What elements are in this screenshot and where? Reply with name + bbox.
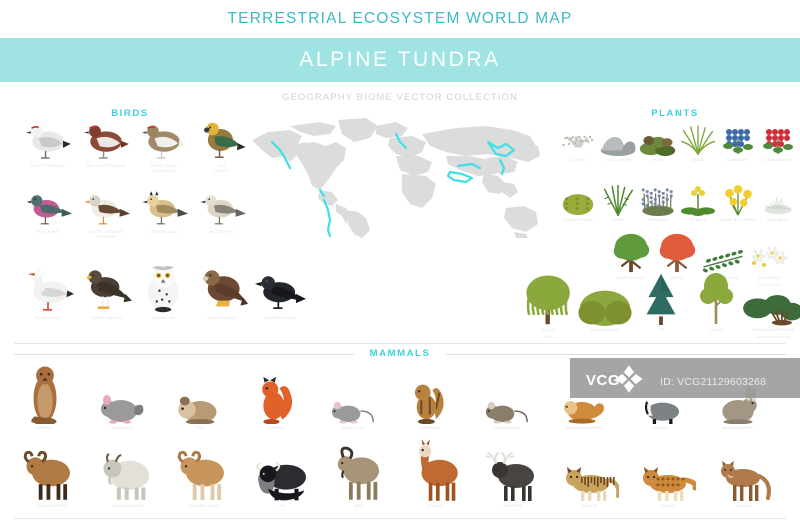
bird-illustration [80,262,132,314]
plant-siberian-dwarf-pine[interactable]: SIBERIAN DWARF PINEJapanese stone pine [742,272,800,340]
mammal-illustration [561,432,619,502]
mammal-label: SQUIRREL [253,426,299,431]
mammal-ibex[interactable]: IBEX [330,432,388,509]
plant-illustration [638,120,678,156]
mammal-chinchilla[interactable]: CHINCHILLA [99,362,145,431]
bird-golden-eagle[interactable]: GOLDEN EAGLE [196,262,248,321]
plant-illustration [718,120,758,156]
mammal-illustration [484,362,530,424]
bird-label: WATER PIPIT [196,230,248,235]
mammal-barbary-sheep[interactable]: BARBARY SHEEP [176,432,234,509]
plant-label: FIR [630,328,692,333]
plant-illustration [742,272,800,326]
mammal-label: BIGHORN SHEEP [22,504,80,509]
plant-illustration [608,230,654,274]
bird-white-tailed-ptarmigan[interactable]: WHITE-TAILED PTARMIGAN [138,118,190,174]
mammal-label: FIELD MOUSE [484,426,530,431]
bird-illustration [80,118,132,162]
bird-label: WHITE-CROWNED SPARROW [80,230,132,240]
bird-illustration [196,118,248,162]
bird-kea-parrot[interactable]: KEA PARROT [196,118,248,174]
mammal-illustration [330,432,388,502]
plant-alder[interactable]: ALDER [686,272,748,333]
plant-label: WILLOW [518,328,580,333]
plant-cushion-plant[interactable]: CUSHION PLANT [558,180,598,223]
bird-illustration [80,188,132,228]
plant-label: EDELWEISS [758,218,798,223]
plant-scientific-name: Salix [518,335,580,340]
divider-bottom [14,518,786,519]
mammal-illustration [407,362,453,424]
plant-lingonberry[interactable]: LINGONBERRY [758,120,798,163]
bird-rock-ptarmigan[interactable]: ROCK PTARMIGAN [22,118,74,169]
mammal-illustration [176,362,222,424]
plant-label: MOSS [638,158,678,163]
bird-snow-goose[interactable]: SNOW GOOSE [22,262,74,321]
watermark-logo: VCG [586,372,620,389]
bird-snowy-owl[interactable]: SNOWY OWL [138,262,190,321]
plant-illustration [598,120,638,156]
mammal-label: CHINCHILLA [99,426,145,431]
bird-label: WILLOW PTARMIGAN [80,164,132,169]
bird-prairie-falcon[interactable]: PRAIRIE FALCON [80,262,132,321]
bird-illustration [254,262,306,314]
mammal-illustration [330,362,376,424]
bird-illustration [196,188,248,228]
mammal-illustration [715,432,773,502]
plant-illustration [678,180,718,216]
bird-label: WHITE-TAILED PTARMIGAN [138,164,190,174]
divider-top [14,343,786,344]
plant-illustration [700,230,746,274]
mammal-illustration [22,362,68,424]
plant-illustration [630,272,692,326]
plant-label: CUSHION PLANT [558,218,598,223]
page-title: TERRESTRIAL ECOSYSTEM WORLD MAP [0,10,800,28]
plant-label: CUP LICHEN [598,158,638,163]
mammal-label: COUGAR [715,504,773,509]
bird-label: SNOW GOOSE [22,316,74,321]
bird-label: HORNED LARK [138,230,190,235]
plant-illustration [574,272,636,326]
mammal-squirrel[interactable]: SQUIRREL [253,362,299,431]
plant-illustration [558,120,598,156]
mammal-illustration [407,432,465,502]
plant-illustration [746,230,792,274]
plant-label: TUNDRA SHRUB [574,328,636,333]
mammal-yak[interactable]: YAK [253,432,311,509]
mammal-bobcat[interactable]: BOBCAT [638,432,696,509]
plant-illustration [518,272,580,326]
mammal-cougar[interactable]: COUGAR [715,432,773,509]
plant-label: LINGONBERRY [758,158,798,163]
mammal-illustration [484,432,542,502]
plant-label: ROSEMARY [638,218,678,223]
plant-lichen[interactable]: LICHEN [558,120,598,163]
plant-illustration [686,272,748,326]
plant-alpine-buttercup[interactable]: ALPINE BUTTERCUP [718,180,758,223]
plant-label: ALDER [686,328,748,333]
mammal-label: BOBCAT [638,504,696,509]
mammal-label: REINDEER [484,504,542,509]
plant-fir[interactable]: FIR [630,272,692,333]
plant-blueberry[interactable]: BLUEBERRY [718,120,758,163]
plant-fern[interactable]: FERN [598,180,638,223]
mammal-illustration [22,432,80,502]
bird-white-crowned-sparrow[interactable]: WHITE-CROWNED SPARROW [80,188,132,240]
mammal-guanaco[interactable]: GUANACO [407,432,465,509]
mammal-chipmunk[interactable]: CHIPMUNK [407,362,453,431]
bird-label: ROCK PTARMIGAN [22,164,74,169]
plant-scientific-name: Japanese stone pine [742,335,800,340]
mammal-illustration [99,432,157,502]
bird-common-raven[interactable]: COMMON RAVEN [254,262,306,321]
plant-cup-lichen[interactable]: CUP LICHEN [598,120,638,163]
mammal-label: SNOW VOLE [330,426,376,431]
plant-label: ALPINE BUTTERCUP [718,218,758,223]
bird-illustration [22,262,74,314]
plant-primula[interactable]: PRIMULA [678,180,718,223]
plant-illustration [758,120,798,156]
bird-label: PRAIRIE FALCON [80,316,132,321]
bird-water-pipit[interactable]: WATER PIPIT [196,188,248,235]
mammal-snow-vole[interactable]: SNOW VOLE [330,362,376,431]
plant-tundra-shrub[interactable]: TUNDRA SHRUB [574,272,636,333]
mammal-label: GROUND SQUIRREL [561,426,607,431]
bird-illustration [196,262,248,314]
plant-illustration [758,180,798,216]
plant-moss[interactable]: MOSS [638,120,678,163]
infographic-page: TERRESTRIAL ECOSYSTEM WORLD MAP ALPINE T… [0,0,800,529]
watermark-id: ID: VCG21129603268 [660,376,766,388]
mammal-label: MARMOT [22,426,68,431]
plant-illustration [718,180,758,216]
plant-sedge[interactable]: SEDGE [678,120,718,163]
bird-illustration [22,118,74,162]
bird-label: COMMON RAVEN [254,316,306,321]
bird-rosy-finch[interactable]: ROSY FINCH [22,188,74,235]
mammal-marmot[interactable]: MARMOT [22,362,68,431]
mammal-wildcat[interactable]: WILDCAT [561,432,619,509]
mammal-label: WILDCAT [561,504,619,509]
bird-label: KEA PARROT [196,164,248,174]
plant-label: BLUEBERRY [718,158,758,163]
mammal-illustration [638,432,696,502]
mammal-label: CHIPMUNK [407,426,453,431]
bird-illustration [138,118,190,162]
mammal-label: MOUNTAIN GOAT [99,504,157,509]
mammal-illustration [99,362,145,424]
bird-label: ROSY FINCH [22,230,74,235]
mammal-illustration [176,432,234,502]
bird-label: SNOWY OWL [138,316,190,321]
plant-illustration [678,120,718,156]
plant-willow[interactable]: WILLOWSalix [518,272,580,340]
mammal-bighorn-sheep[interactable]: BIGHORN SHEEP [22,432,80,509]
mammal-mountain-goat[interactable]: MOUNTAIN GOAT [99,432,157,509]
mammal-illustration [253,362,299,424]
mammal-label: GUANACO [407,504,465,509]
plant-edelweiss[interactable]: EDELWEISS [758,180,798,223]
mammal-field-mouse[interactable]: FIELD MOUSE [484,362,530,431]
plant-label: FERN [598,218,638,223]
bird-illustration [22,188,74,228]
plant-illustration [558,180,598,216]
bird-illustration [138,262,190,314]
mammal-pika[interactable]: PIKA [176,362,222,431]
biome-title: ALPINE TUNDRA [0,48,800,72]
mammal-reindeer[interactable]: REINDEER [484,432,542,509]
plant-label: LICHEN [558,158,598,163]
mammal-label: PIKA [176,426,222,431]
plant-illustration [638,180,678,216]
mammal-label: MOUNTAIN HARE [715,426,761,431]
plant-label: SEDGE [678,158,718,163]
mammal-illustration [253,432,311,502]
plant-illustration [654,230,700,274]
bird-illustration [138,188,190,228]
section-heading-plants: PLANTS [615,108,735,119]
plant-label: SIBERIAN DWARF PINE [742,328,800,333]
bird-horned-lark[interactable]: HORNED LARK [138,188,190,235]
mammal-label: BARBARY SHEEP [176,504,234,509]
plant-label: PRIMULA [678,218,718,223]
world-map [250,112,542,240]
bird-willow-ptarmigan[interactable]: WILLOW PTARMIGAN [80,118,132,169]
page-subtitle: GEOGRAPHY BIOME VECTOR COLLECTION [0,92,800,103]
plant-illustration [598,180,638,216]
mammal-label: YAK [253,504,311,509]
mammal-label: BADGER [638,426,684,431]
mammal-label: IBEX [330,504,388,509]
bird-label: GOLDEN EAGLE [196,316,248,321]
plant-rosemary[interactable]: ROSEMARY [638,180,678,223]
